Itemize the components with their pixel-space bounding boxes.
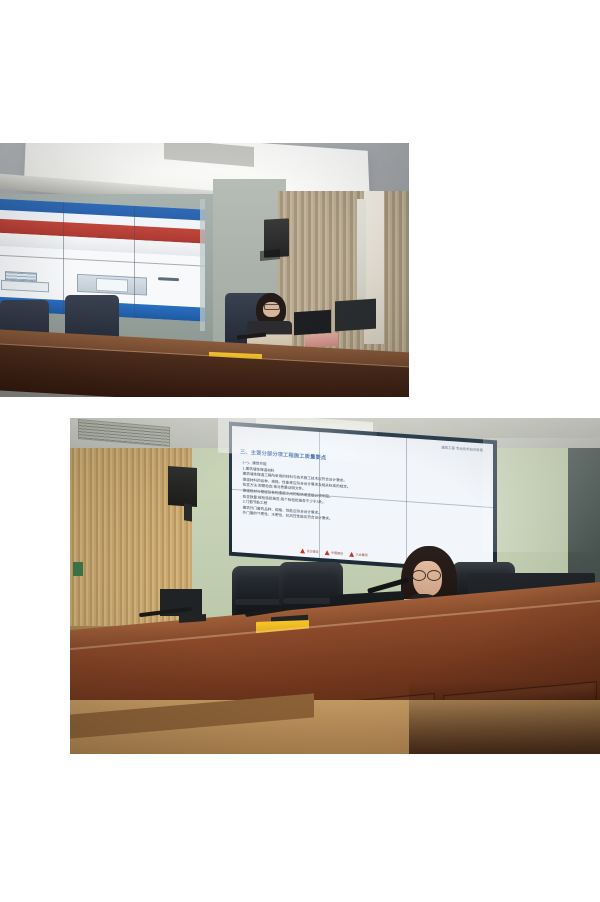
wall-speaker-bracket <box>184 503 192 521</box>
slide-logo-label: 长沙建设 <box>307 550 319 555</box>
slide-title: 三、主要分部分项工程施工质量要点 <box>240 448 326 461</box>
glasses-icon <box>412 570 441 579</box>
wall-dark-column <box>568 448 600 589</box>
triangle-logo-icon <box>325 550 330 555</box>
exit-sign-icon <box>73 562 84 575</box>
video-wall-screen: 建筑工程 专业技术知识讲座 三、主要分部分项工程施工质量要点 (一)、建筑节能 … <box>232 426 493 571</box>
slide-logo-row: 长沙建设 中国建设 六合集团 <box>300 549 368 559</box>
window-strip <box>357 199 366 316</box>
wall-speaker-icon <box>168 466 197 507</box>
glasses-icon <box>264 304 280 310</box>
cad-detail-b <box>0 280 49 293</box>
triangle-logo-icon <box>300 549 305 554</box>
cad-detail-d <box>158 277 179 281</box>
wall-speaker-shadow <box>260 249 280 261</box>
triangle-logo-icon <box>349 552 354 557</box>
glass-divider <box>200 199 205 331</box>
photo-shadow <box>409 680 600 754</box>
slide-logo-label: 六合集团 <box>356 553 368 558</box>
collage-canvas: 建筑工程 专业技术知识讲座 三、主要分部分项工程施工质量要点 (一)、建筑节能 … <box>0 0 600 902</box>
slide-header-right: 建筑工程 专业技术知识讲座 <box>441 445 483 453</box>
name-plate <box>305 333 338 347</box>
cad-detail-c <box>77 273 147 295</box>
video-wall-frame: 建筑工程 专业技术知识讲座 三、主要分部分项工程施工质量要点 (一)、建筑节能 … <box>229 422 497 575</box>
microphone-base <box>179 614 206 623</box>
slide-logo-label: 中国建设 <box>331 551 343 556</box>
slide-logo: 中国建设 <box>325 550 344 556</box>
photo-top-conference-room <box>0 143 409 397</box>
desktop-monitor <box>335 299 376 332</box>
glasses-lens-right <box>427 570 441 581</box>
slide-logo: 长沙建设 <box>300 549 319 555</box>
slide-logo: 六合集团 <box>349 552 368 558</box>
photo-bottom-conference-room: 建筑工程 专业技术知识讲座 三、主要分部分项工程施工质量要点 (一)、建筑节能 … <box>70 418 600 754</box>
laptop <box>294 309 331 334</box>
